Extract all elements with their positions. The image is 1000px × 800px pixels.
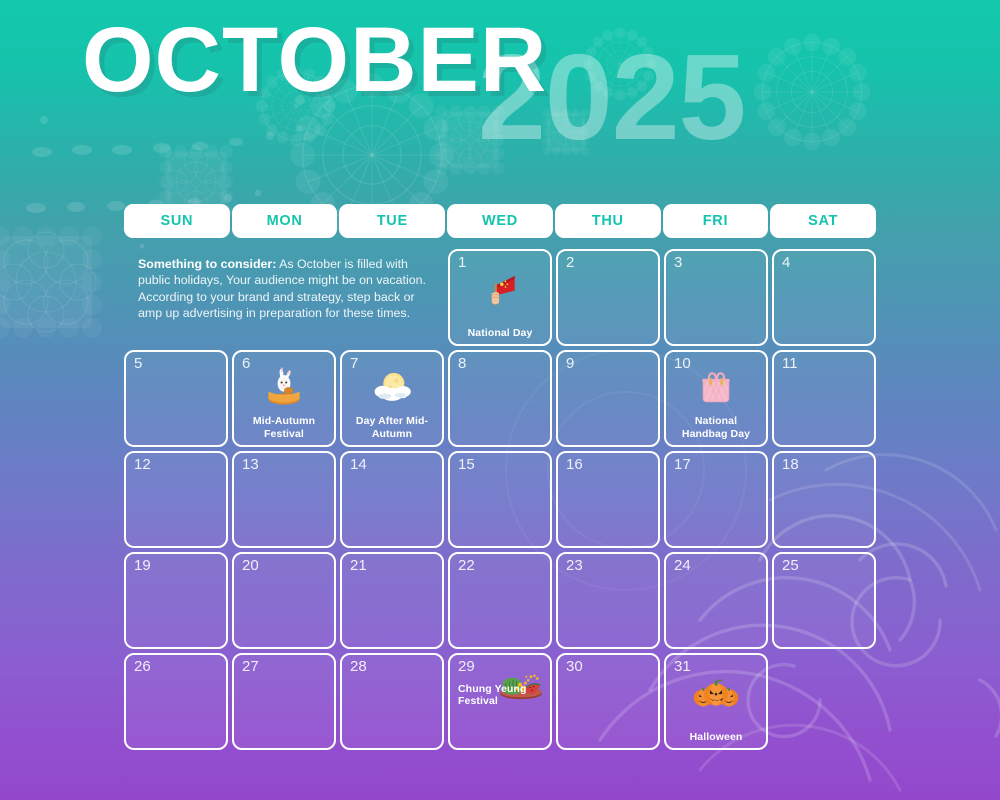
event-label: Chung Yeung Festival (458, 683, 545, 708)
day-number: 13 (242, 456, 259, 474)
calendar-day-cell[interactable]: 25 (772, 552, 876, 649)
calendar-day-cell[interactable]: 11 (772, 350, 876, 447)
day-number: 22 (458, 557, 475, 575)
day-number: 19 (134, 557, 151, 575)
day-number: 4 (782, 254, 790, 272)
consideration-note: Something to consider: As October is fil… (138, 256, 426, 322)
calendar-day-cell[interactable]: 5 (124, 350, 228, 447)
weekday-header-thu: THU (555, 204, 661, 238)
day-number: 31 (674, 658, 691, 676)
weekday-header-fri: FRI (663, 204, 769, 238)
calendar-day-cell[interactable]: 26 (124, 653, 228, 750)
calendar-day-cell[interactable]: 13 (232, 451, 336, 548)
calendar-day-cell[interactable]: 17 (664, 451, 768, 548)
calendar-day-cell[interactable]: 9 (556, 350, 660, 447)
calendar-day-cell[interactable]: 7 Day After Mid-Autumn (340, 350, 444, 447)
calendar-day-cell[interactable]: 21 (340, 552, 444, 649)
calendar-day-cell[interactable]: 10 National Handbag Day (664, 350, 768, 447)
weekday-header-sat: SAT (770, 204, 876, 238)
day-number: 30 (566, 658, 583, 676)
day-number: 26 (134, 658, 151, 676)
calendar-day-cell[interactable]: 4 (772, 249, 876, 346)
event-label: National Day (455, 327, 545, 339)
calendar-day-cell[interactable]: 16 (556, 451, 660, 548)
calendar-day-cell[interactable]: 1 National Day (448, 249, 552, 346)
day-number: 15 (458, 456, 475, 474)
day-number: 28 (350, 658, 367, 676)
calendar-day-cell[interactable]: 18 (772, 451, 876, 548)
calendar-day-cell[interactable]: 24 (664, 552, 768, 649)
calendar-day-cell[interactable]: 6 Mid-Autumn Festival (232, 350, 336, 447)
calendar-day-cell[interactable]: 27 (232, 653, 336, 750)
flag-hand-icon (476, 265, 524, 309)
day-number: 17 (674, 456, 691, 474)
calendar-cell-empty (772, 653, 876, 750)
calendar-day-cell[interactable]: 12 (124, 451, 228, 548)
event-label: Mid-Autumn Festival (239, 415, 329, 440)
calendar-day-cell[interactable]: 29 Chun (448, 653, 552, 750)
day-number: 23 (566, 557, 583, 575)
day-number: 29 (458, 658, 475, 676)
day-number: 3 (674, 254, 682, 272)
weekday-header-sun: SUN (124, 204, 230, 238)
day-number: 16 (566, 456, 583, 474)
calendar-day-cell[interactable]: 3 (664, 249, 768, 346)
sun-clouds-icon (368, 366, 416, 410)
day-number: 27 (242, 658, 259, 676)
day-number: 5 (134, 355, 142, 373)
day-number: 10 (674, 355, 691, 373)
weekday-header-tue: TUE (339, 204, 445, 238)
weekday-header-wed: WED (447, 204, 553, 238)
month-title: OCTOBER (82, 14, 547, 106)
calendar-day-cell[interactable]: 14 (340, 451, 444, 548)
day-number: 20 (242, 557, 259, 575)
handbag-icon (692, 366, 740, 410)
day-number: 7 (350, 355, 358, 373)
calendar-day-cell[interactable]: 28 (340, 653, 444, 750)
calendar-day-cell[interactable]: 31 (664, 653, 768, 750)
day-number: 9 (566, 355, 574, 373)
day-number: 12 (134, 456, 151, 474)
pumpkins-icon (692, 669, 740, 713)
calendar-page: 2025 OCTOBER SUNMONTUEWEDTHUFRISAT 1 Nat… (0, 0, 1000, 800)
day-number: 11 (782, 355, 798, 373)
calendar-day-cell[interactable]: 19 (124, 552, 228, 649)
event-label: Day After Mid-Autumn (347, 415, 437, 440)
calendar-day-cell[interactable]: 30 (556, 653, 660, 750)
day-number: 14 (350, 456, 367, 474)
weekday-header-mon: MON (232, 204, 338, 238)
day-number: 6 (242, 355, 250, 373)
calendar-day-cell[interactable]: 22 (448, 552, 552, 649)
calendar-day-cell[interactable]: 2 (556, 249, 660, 346)
day-number: 8 (458, 355, 466, 373)
weekday-header-row: SUNMONTUEWEDTHUFRISAT (124, 204, 876, 238)
day-number: 18 (782, 456, 799, 474)
day-number: 24 (674, 557, 691, 575)
calendar-day-cell[interactable]: 15 (448, 451, 552, 548)
calendar-day-cell[interactable]: 23 (556, 552, 660, 649)
day-number: 25 (782, 557, 799, 575)
day-number: 21 (350, 557, 367, 575)
calendar-day-cell[interactable]: 8 (448, 350, 552, 447)
calendar-grid: 1 National Day23456 (124, 249, 876, 750)
rabbit-mooncake-icon (260, 366, 308, 410)
note-lead: Something to consider: (138, 257, 276, 271)
day-number: 1 (458, 254, 466, 272)
day-number: 2 (566, 254, 574, 272)
calendar-header: 2025 OCTOBER (0, 0, 1000, 190)
event-label: National Handbag Day (671, 415, 761, 440)
calendar-day-cell[interactable]: 20 (232, 552, 336, 649)
event-label: Halloween (671, 731, 761, 743)
